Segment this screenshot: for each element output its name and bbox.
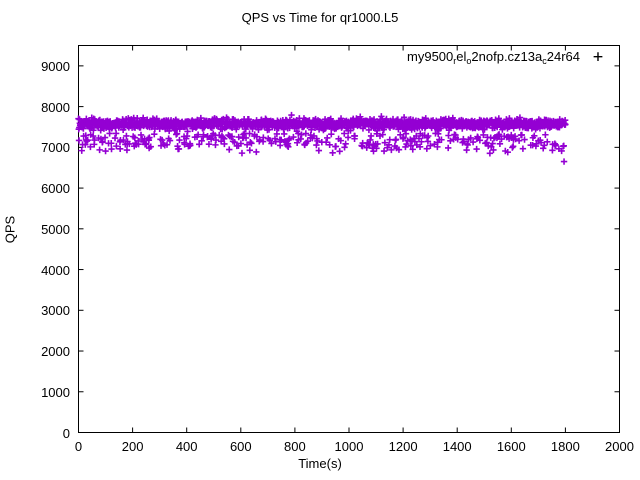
y-tick-label: 6000 — [8, 182, 70, 195]
y-tick-label: 3000 — [8, 304, 70, 317]
x-tick-label: 1800 — [535, 440, 595, 453]
plot-frame — [79, 46, 620, 433]
x-tick-label: 1600 — [481, 440, 541, 453]
chart-root: QPS vs Time for qr1000.L5 my9500relo2nof… — [0, 0, 640, 480]
x-tick-label: 200 — [103, 440, 163, 453]
y-tick-label: 0 — [8, 427, 70, 440]
y-axis-title: QPS — [3, 200, 18, 260]
x-tick-label: 400 — [157, 440, 217, 453]
x-tick-label: 1200 — [373, 440, 433, 453]
x-axis-title: Time(s) — [0, 456, 640, 471]
x-tick-label: 600 — [211, 440, 271, 453]
x-tick-label: 1000 — [319, 440, 379, 453]
x-tick-label: 1400 — [427, 440, 487, 453]
y-tick-label: 9000 — [8, 60, 70, 73]
plot-canvas — [0, 0, 640, 480]
data-points-layer — [75, 112, 568, 165]
x-tick-label: 2000 — [590, 440, 640, 453]
x-tick-label: 0 — [49, 440, 109, 453]
y-tick-label: 7000 — [8, 141, 70, 154]
x-tick-label: 800 — [265, 440, 325, 453]
y-tick-label: 1000 — [8, 386, 70, 399]
y-tick-label: 8000 — [8, 101, 70, 114]
y-tick-label: 4000 — [8, 264, 70, 277]
y-tick-label: 2000 — [8, 345, 70, 358]
axis-ticks — [79, 46, 620, 433]
